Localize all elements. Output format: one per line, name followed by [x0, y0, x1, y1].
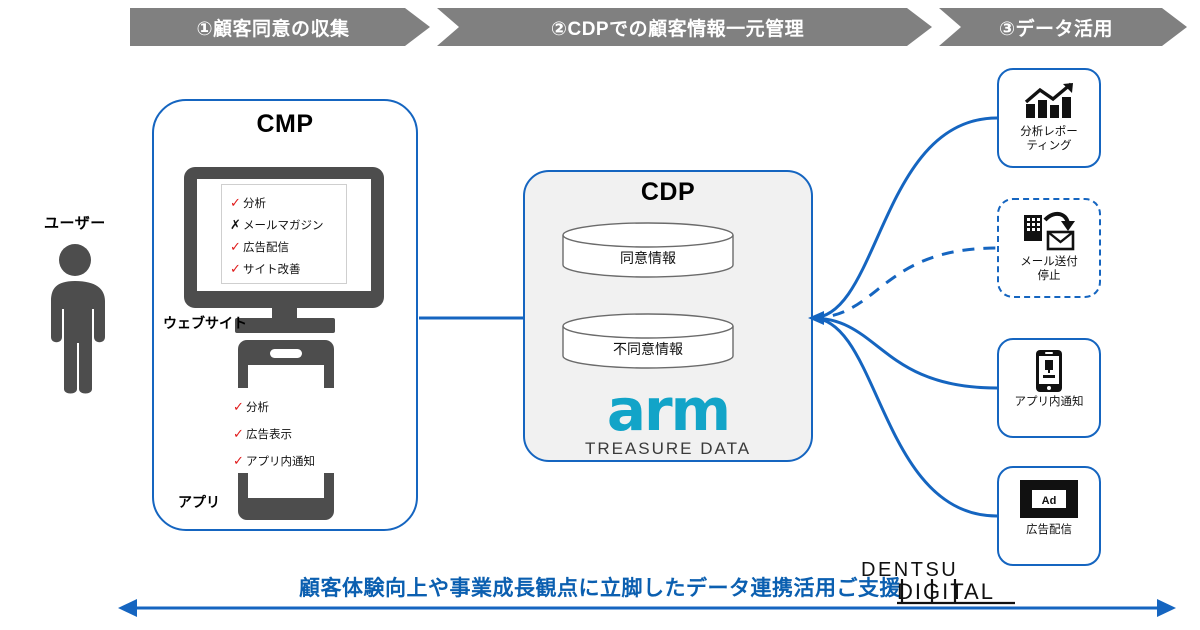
phase-banner-1-label: ①顧客同意の収集 [196, 14, 363, 41]
svg-text:Ad: Ad [1042, 495, 1057, 507]
consent-row: ✗ メールマガジン [230, 214, 346, 236]
phase-banner-2-label: ②CDPでの顧客情報一元管理 [551, 14, 818, 41]
database-cylinder-consent: 同意情報 [562, 222, 734, 278]
output-card-ad-delivery[interactable]: Ad 広告配信 [997, 466, 1101, 566]
wire-to-report [812, 118, 997, 318]
consent-label: 分析 [246, 399, 269, 415]
website-consent-list: ✓ 分析 ✗ メールマガジン ✓ 広告配信 ✓ サイト改善 [221, 184, 347, 284]
website-label: ウェブサイト [163, 313, 247, 333]
consent-row: ✓ 分析 [233, 393, 345, 420]
consent-label: メールマガジン [243, 217, 324, 233]
database-cylinder-nonconsent: 不同意情報 [562, 313, 734, 369]
database-label: 不同意情報 [562, 339, 734, 359]
arm-treasure-data-logo: arm TREASURE DATA [523, 383, 813, 459]
consent-check-icon: ✓ [230, 195, 243, 211]
wire-to-ad [812, 318, 997, 516]
app-label: アプリ [178, 492, 220, 512]
phase-banner-1: ①顧客同意の収集 [130, 8, 430, 46]
consent-check-icon: ✓ [230, 239, 243, 255]
output-card-label: 分析レポー ティング [1020, 125, 1078, 154]
phase-banner-3: ③データ活用 [939, 8, 1187, 46]
bar-chart-icon [1023, 79, 1075, 123]
phase-banner-3-label: ③データ活用 [999, 14, 1127, 41]
consent-check-icon: ✓ [233, 399, 246, 415]
cdp-title: CDP [523, 178, 813, 207]
ad-banner-icon: Ad [1020, 477, 1078, 521]
consent-row: ✓ 分析 [230, 192, 346, 214]
monitor-foot [235, 318, 335, 333]
dentsu-digital-logo: DENTSU DIGITAL [855, 559, 1025, 605]
consent-label: 分析 [243, 195, 266, 211]
app-consent-list: ✓ 分析 ✓ 広告表示 ✓ アプリ内通知 [227, 388, 345, 473]
cmp-title: CMP [152, 110, 418, 139]
phone-speaker [270, 349, 302, 358]
output-card-mail-stop[interactable]: メール送付 停止 [997, 198, 1101, 298]
output-card-analysis-reporting[interactable]: 分析レポー ティング [997, 68, 1101, 168]
arm-wordmark: arm [523, 383, 813, 438]
consent-row: ✓ サイト改善 [230, 258, 346, 280]
wire-to-appnotice [812, 318, 997, 388]
arm-subtitle: TREASURE DATA [523, 439, 813, 459]
phone-alert-icon [1034, 349, 1064, 393]
dentsu-logo-strokes [855, 559, 1025, 605]
output-card-label: メール送付 停止 [1020, 255, 1078, 284]
mail-stop-icon [1022, 209, 1076, 253]
consent-check-icon: ✓ [233, 426, 246, 442]
person-icon [38, 243, 112, 395]
output-card-in-app-notification[interactable]: アプリ内通知 [997, 338, 1101, 438]
consent-row: ✓ アプリ内通知 [233, 447, 345, 474]
consent-check-icon: ✓ [233, 453, 246, 469]
database-label: 同意情報 [562, 248, 734, 268]
consent-cross-icon: ✗ [230, 217, 243, 233]
consent-label: アプリ内通知 [246, 453, 315, 469]
consent-row: ✓ 広告配信 [230, 236, 346, 258]
consent-check-icon: ✓ [230, 261, 243, 277]
consent-row: ✓ 広告表示 [233, 420, 345, 447]
diagram-canvas: ①顧客同意の収集 ②CDPでの顧客情報一元管理 ③データ活用 ユーザー CMP … [0, 0, 1200, 630]
output-card-label: アプリ内通知 [1015, 395, 1084, 409]
consent-label: 広告表示 [246, 426, 292, 442]
user-label: ユーザー [44, 212, 106, 233]
wire-to-mailstop [812, 248, 997, 318]
output-card-label: 広告配信 [1026, 523, 1072, 537]
consent-label: サイト改善 [243, 261, 301, 277]
consent-label: 広告配信 [243, 239, 289, 255]
phase-banner-2: ②CDPでの顧客情報一元管理 [437, 8, 932, 46]
